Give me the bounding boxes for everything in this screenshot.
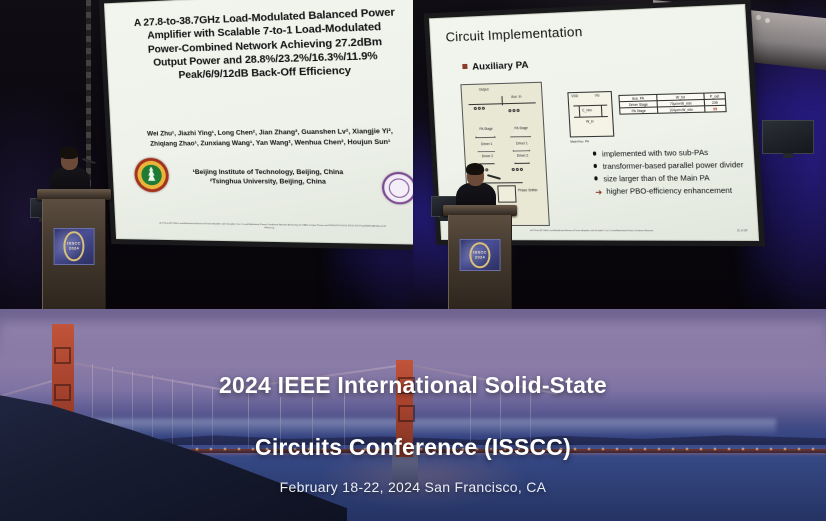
projection-screen-left[interactable]: A 27.8-to-38.7GHz Load-Modulated Balance… — [104, 0, 413, 245]
isscc-podium-logo-text-2: ISSCC2024 — [473, 251, 487, 260]
speaker-hair — [60, 147, 78, 159]
banner-title-line-1: 2024 IEEE International Solid-State — [0, 372, 826, 399]
screenshot-root: A 27.8-to-38.7GHz Load-Modulated Balance… — [0, 0, 826, 521]
side-display — [762, 120, 814, 154]
isscc-conference-banner: 2024 IEEE International Solid-State Circ… — [0, 309, 826, 521]
banner-title-line-2: Circuits Conference (ISSCC) — [0, 434, 826, 461]
screen-frame — [99, 0, 413, 251]
video-panel-left[interactable]: A 27.8-to-38.7GHz Load-Modulated Balance… — [0, 0, 413, 309]
isscc-podium-logo-2: ISSCC2024 — [460, 239, 501, 271]
isscc-podium-logo: ISSCC2024 — [54, 228, 95, 265]
isscc-podium-logo-text: ISSCC2024 — [67, 242, 81, 251]
speaker-hair-2 — [466, 163, 484, 175]
dual-video-panels: A 27.8-to-38.7GHz Load-Modulated Balance… — [0, 0, 826, 309]
podium-right: ISSCC2024 — [446, 205, 514, 309]
banner-text-block: 2024 IEEE International Solid-State Circ… — [0, 309, 826, 521]
video-panel-right[interactable]: Circuit Implementation Auxiliary PA Outp… — [413, 0, 826, 309]
podium-body: ISSCC2024 — [42, 199, 106, 309]
ceiling-spotlights-2 — [756, 15, 778, 23]
podium-left: ISSCC2024 — [40, 189, 108, 309]
banner-subtitle: February 18-22, 2024 San Francisco, CA — [0, 479, 826, 495]
podium-body-2: ISSCC2024 — [448, 215, 512, 309]
